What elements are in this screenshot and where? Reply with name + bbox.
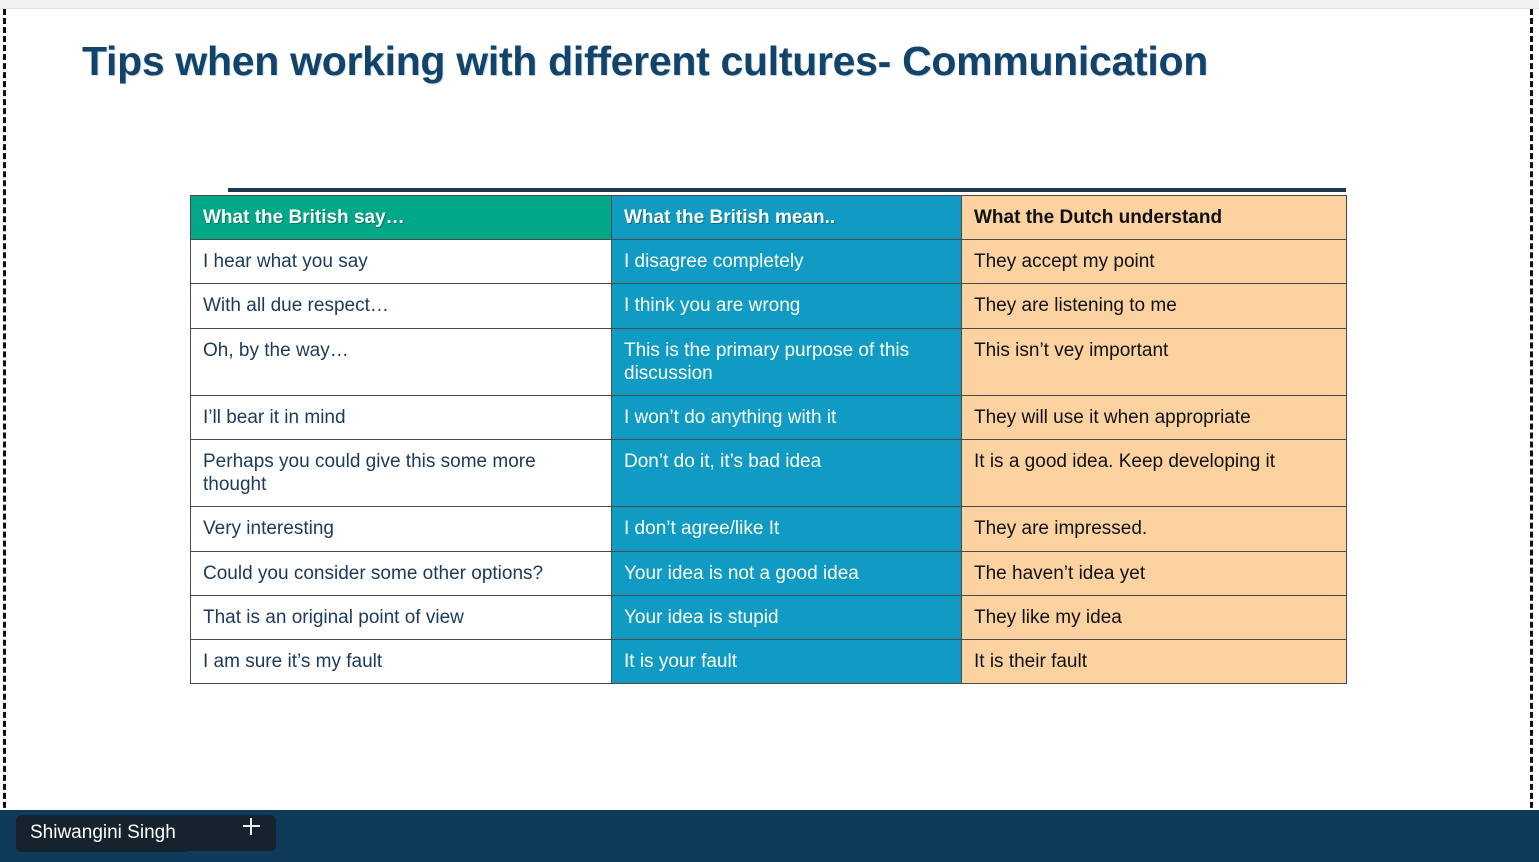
cell-british-say: Oh, by the way…	[191, 328, 612, 395]
cell-dutch-understand: They are listening to me	[962, 284, 1347, 328]
table-row: I’ll bear it in mind I won’t do anything…	[191, 395, 1347, 439]
table-row: Oh, by the way… This is the primary purp…	[191, 328, 1347, 395]
window-top-strip	[0, 0, 1539, 9]
table-row: I hear what you say I disagree completel…	[191, 240, 1347, 284]
table-row: That is an original point of view Your i…	[191, 595, 1347, 639]
cursor-crosshair-icon	[243, 818, 259, 834]
meeting-toolbar-pill[interactable]	[176, 815, 276, 851]
comparison-table-container: What the British say… What the British m…	[190, 188, 1346, 684]
cell-dutch-understand: It is their fault	[962, 639, 1347, 683]
cell-british-mean: I won’t do anything with it	[612, 395, 962, 439]
cell-dutch-understand: The haven’t idea yet	[962, 551, 1347, 595]
cell-dutch-understand: This isn’t vey important	[962, 328, 1347, 395]
table-row: I am sure it’s my fault It is your fault…	[191, 639, 1347, 683]
table-row: Very interesting I don’t agree/like It T…	[191, 507, 1347, 551]
column-header-british-mean: What the British mean..	[612, 196, 962, 240]
cell-dutch-understand: They are impressed.	[962, 507, 1347, 551]
cell-british-say: I am sure it’s my fault	[191, 639, 612, 683]
cell-british-say: Could you consider some other options?	[191, 551, 612, 595]
cell-british-say: I’ll bear it in mind	[191, 395, 612, 439]
table-top-rule	[228, 188, 1346, 192]
cell-british-say: That is an original point of view	[191, 595, 612, 639]
cell-dutch-understand: They accept my point	[962, 240, 1347, 284]
column-header-dutch-understand: What the Dutch understand	[962, 196, 1347, 240]
slide-frame-left-edge	[3, 9, 6, 862]
table-row: Could you consider some other options? Y…	[191, 551, 1347, 595]
cell-british-mean: This is the primary purpose of this disc…	[612, 328, 962, 395]
cell-british-mean: Don’t do it, it’s bad idea	[612, 440, 962, 507]
page-title: Tips when working with different culture…	[82, 38, 1422, 85]
cell-british-say: Perhaps you could give this some more th…	[191, 440, 612, 507]
table-header-row: What the British say… What the British m…	[191, 196, 1347, 240]
cell-british-say: Very interesting	[191, 507, 612, 551]
cell-british-mean: Your idea is not a good idea	[612, 551, 962, 595]
slide-frame-right-edge	[1530, 9, 1533, 862]
cell-british-mean: I think you are wrong	[612, 284, 962, 328]
cell-dutch-understand: They will use it when appropriate	[962, 395, 1347, 439]
cell-dutch-understand: They like my idea	[962, 595, 1347, 639]
cell-british-mean: It is your fault	[612, 639, 962, 683]
slide-canvas: Tips when working with different culture…	[0, 0, 1539, 862]
cell-british-mean: Your idea is stupid	[612, 595, 962, 639]
british-dutch-comparison-table: What the British say… What the British m…	[190, 195, 1347, 684]
presenter-name-badge: Shiwangini Singh	[16, 815, 190, 852]
cell-british-say: With all due respect…	[191, 284, 612, 328]
cell-british-say: I hear what you say	[191, 240, 612, 284]
table-row: Perhaps you could give this some more th…	[191, 440, 1347, 507]
column-header-british-say: What the British say…	[191, 196, 612, 240]
cell-dutch-understand: It is a good idea. Keep developing it	[962, 440, 1347, 507]
cell-british-mean: I don’t agree/like It	[612, 507, 962, 551]
table-row: With all due respect… I think you are wr…	[191, 284, 1347, 328]
cell-british-mean: I disagree completely	[612, 240, 962, 284]
